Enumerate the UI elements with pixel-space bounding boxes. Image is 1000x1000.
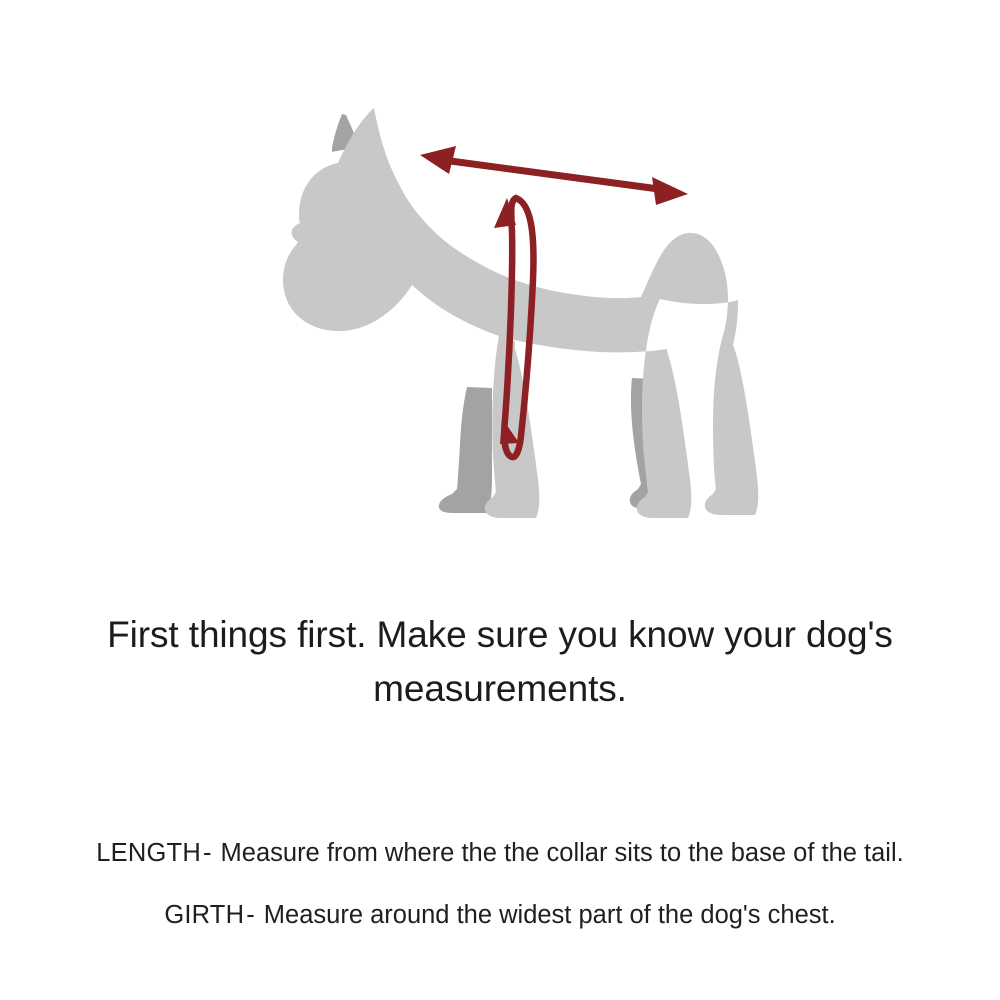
- dog-far-front-leg-shape: [439, 387, 492, 513]
- length-arrow-head-left: [420, 146, 456, 174]
- measurement-definitions-list: LENGTH- Measure from where the the colla…: [0, 826, 1000, 943]
- dog-diagram-svg: [0, 0, 1000, 600]
- definition-girth: GIRTH- Measure around the widest part of…: [20, 888, 980, 943]
- definition-length-description: Measure from where the the collar sits t…: [221, 839, 904, 867]
- definition-length-separator: -: [201, 839, 214, 867]
- definition-length: LENGTH- Measure from where the the colla…: [20, 826, 980, 881]
- definition-girth-term: GIRTH: [164, 901, 244, 929]
- length-arrow-head-right: [652, 177, 688, 205]
- measurement-guide-page: First things first. Make sure you know y…: [0, 0, 1000, 1000]
- dog-measurement-illustration: [0, 0, 1000, 600]
- definition-girth-description: Measure around the widest part of the do…: [264, 901, 836, 929]
- definition-length-term: LENGTH: [96, 839, 201, 867]
- measurement-copy-block: First things first. Make sure you know y…: [0, 608, 1000, 943]
- length-arrow-shaft: [443, 160, 666, 190]
- length-measurement-arrow: [420, 146, 688, 205]
- page-headline: First things first. Make sure you know y…: [0, 608, 1000, 716]
- definition-girth-separator: -: [244, 901, 257, 929]
